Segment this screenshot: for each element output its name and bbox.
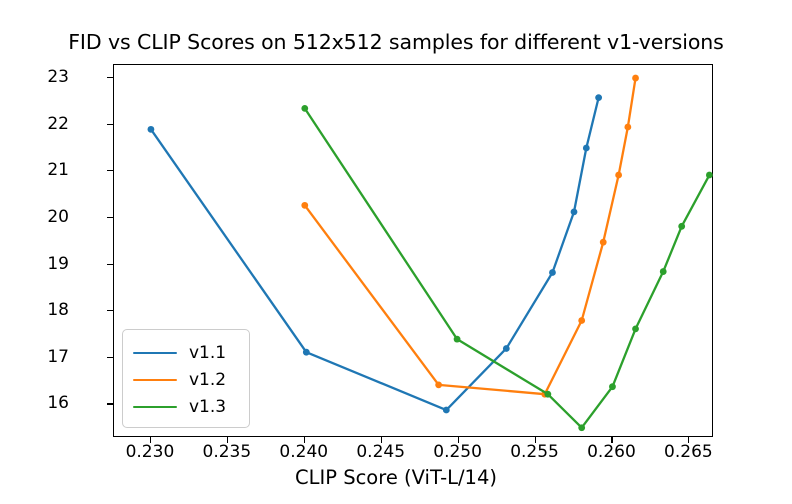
data-point-marker <box>624 124 631 131</box>
data-point-marker <box>660 268 667 275</box>
data-point-marker <box>571 208 578 215</box>
data-point-marker <box>301 202 308 209</box>
y-tick-label: 19 <box>47 254 69 274</box>
data-point-marker <box>544 391 551 398</box>
data-point-marker <box>148 126 155 133</box>
chart-title: FID vs CLIP Scores on 512x512 samples fo… <box>0 30 792 54</box>
legend-label: v1.3 <box>189 399 226 416</box>
data-point-marker <box>583 145 590 152</box>
series-v1-3 <box>301 105 712 431</box>
x-axis-label: CLIP Score (ViT-L/14) <box>0 466 792 489</box>
x-tick-label: 0.265 <box>664 442 713 462</box>
x-tick-label: 0.240 <box>279 442 328 462</box>
legend-color-swatch <box>133 352 177 355</box>
data-point-marker <box>503 345 510 352</box>
data-point-marker <box>435 381 442 388</box>
x-tick-label: 0.260 <box>587 442 636 462</box>
series-line <box>305 108 710 427</box>
data-point-marker <box>600 239 607 246</box>
legend-item-v1-1[interactable]: v1.1 <box>133 340 226 366</box>
legend-label: v1.1 <box>189 345 226 362</box>
x-tick-label: 0.250 <box>433 442 482 462</box>
legend-label: v1.2 <box>189 372 226 389</box>
figure-canvas: FID vs CLIP Scores on 512x512 samples fo… <box>0 0 792 504</box>
x-tick-label: 0.255 <box>510 442 559 462</box>
data-point-marker <box>443 407 450 414</box>
x-tick-label: 0.230 <box>126 442 175 462</box>
legend-color-swatch <box>133 379 177 382</box>
data-point-marker <box>301 105 308 112</box>
data-point-marker <box>578 424 585 431</box>
data-point-marker <box>706 172 713 179</box>
y-tick-label: 22 <box>47 114 69 134</box>
data-point-marker <box>595 94 602 101</box>
x-tick-label: 0.235 <box>203 442 252 462</box>
y-tick-label: 23 <box>47 67 69 87</box>
data-point-marker <box>454 336 461 343</box>
legend-box: v1.1v1.2v1.3 <box>122 329 250 428</box>
legend-item-v1-2[interactable]: v1.2 <box>133 367 226 393</box>
legend-color-swatch <box>133 406 177 409</box>
y-tick-label: 17 <box>47 347 69 367</box>
legend-item-v1-3[interactable]: v1.3 <box>133 394 226 420</box>
data-point-marker <box>609 383 616 390</box>
data-point-marker <box>303 349 310 356</box>
data-point-marker <box>578 317 585 324</box>
y-tick-label: 20 <box>47 207 69 227</box>
series-v1-2 <box>301 75 639 398</box>
data-point-marker <box>632 75 639 82</box>
data-point-marker <box>615 172 622 179</box>
x-tick-label: 0.245 <box>356 442 405 462</box>
data-point-marker <box>549 269 556 276</box>
y-tick-label: 18 <box>47 300 69 320</box>
data-point-marker <box>632 326 639 333</box>
y-tick-label: 16 <box>47 393 69 413</box>
y-tick-label: 21 <box>47 160 69 180</box>
data-point-marker <box>678 223 685 230</box>
